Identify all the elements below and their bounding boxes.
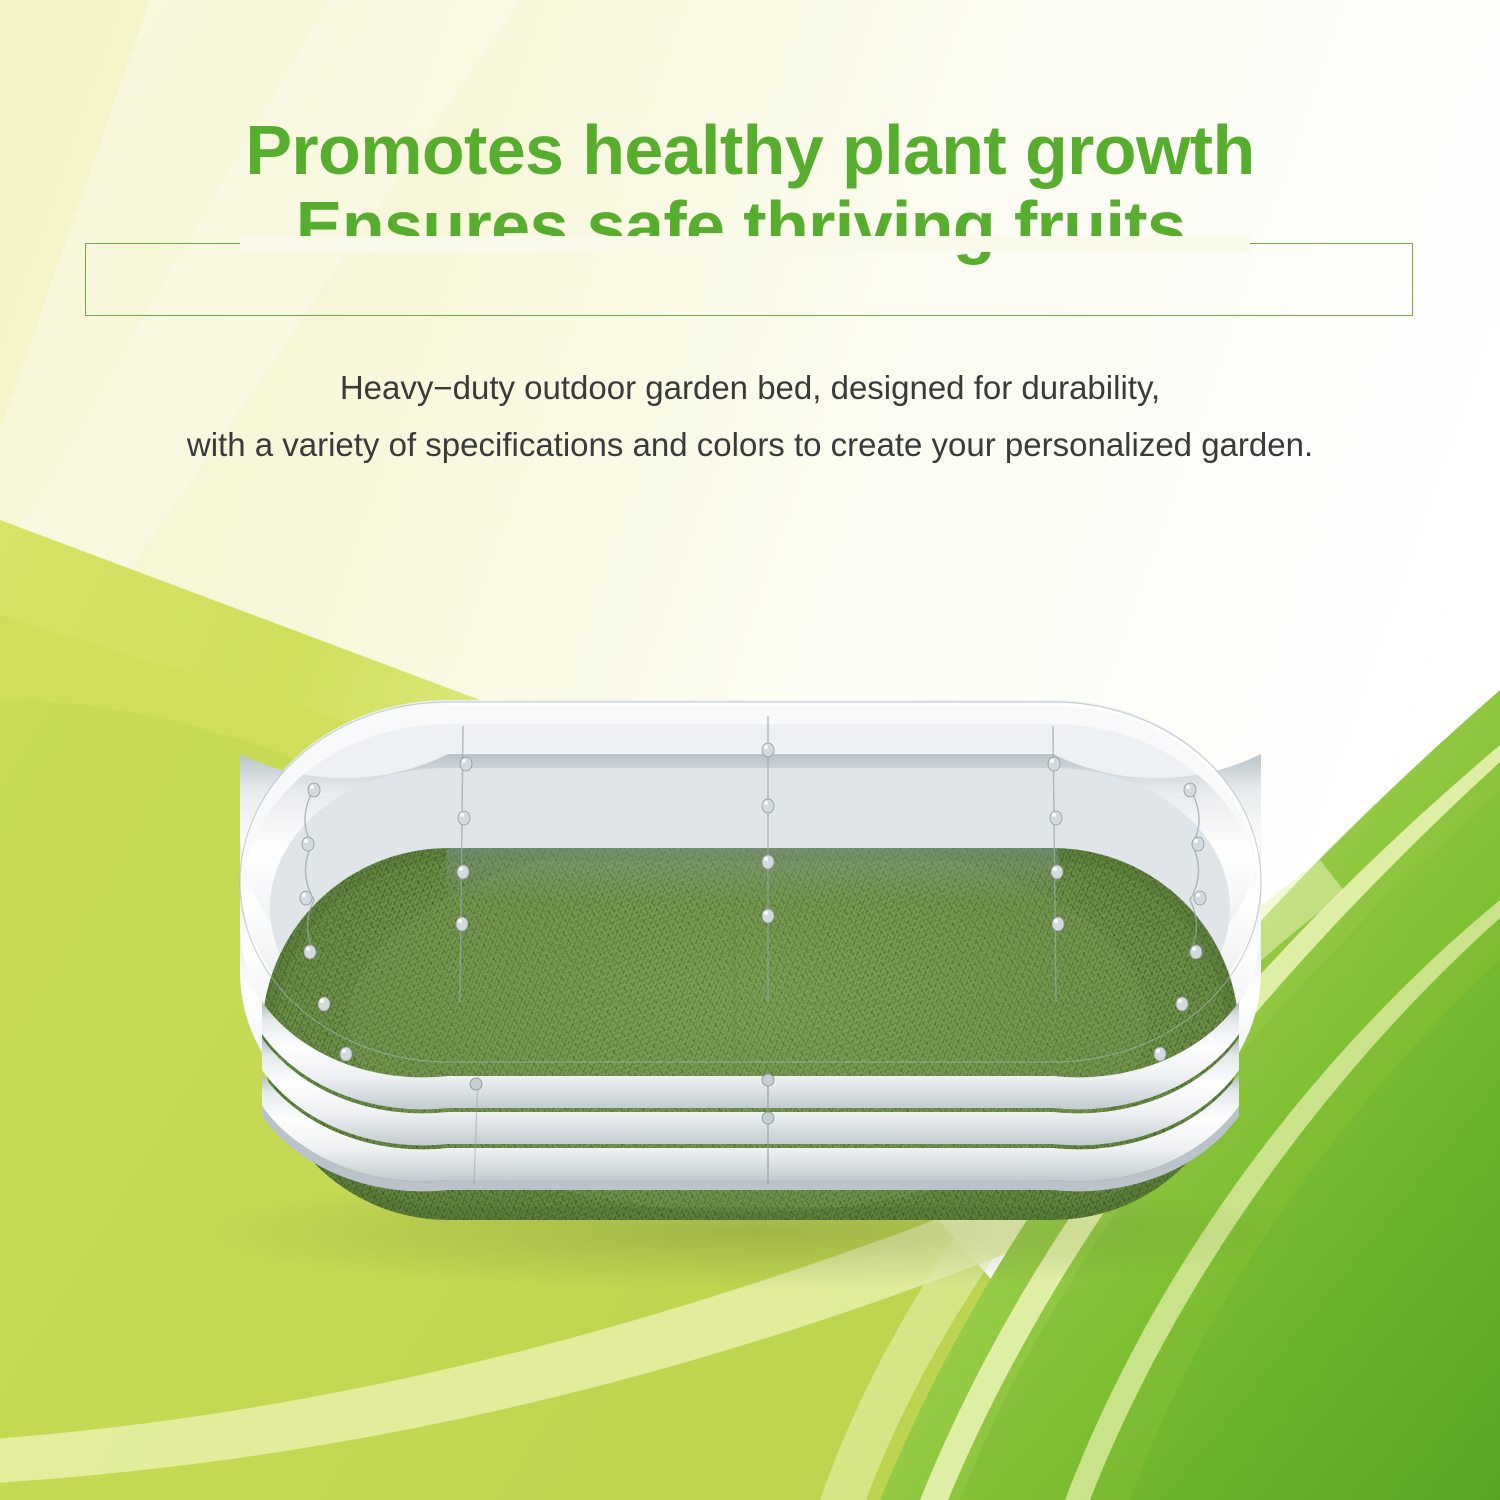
- bolt: [762, 799, 774, 813]
- subtitle-line-2: with a variety of specifications and col…: [0, 425, 1500, 465]
- bolt: [302, 837, 314, 851]
- bolt: [340, 1047, 352, 1061]
- bolt: [762, 1112, 774, 1124]
- bolt: [1050, 811, 1062, 825]
- bolt: [458, 811, 470, 825]
- product-image-raised-garden-bed: [148, 672, 1358, 1292]
- bolt: [1176, 997, 1188, 1011]
- bolt: [1184, 783, 1196, 797]
- headline-block: Promotes healthy plant growth Ensures sa…: [0, 0, 1500, 500]
- bolt: [308, 783, 320, 797]
- bolt: [762, 743, 774, 757]
- bolt: [456, 917, 468, 931]
- bolt: [1154, 1047, 1166, 1061]
- bolt: [1048, 757, 1060, 771]
- bolt: [1192, 837, 1204, 851]
- bolt: [1052, 917, 1064, 931]
- subtitle-line-1: Heavy−duty outdoor garden bed, designed …: [0, 368, 1500, 408]
- product-banner: Promotes healthy plant growth Ensures sa…: [0, 0, 1500, 1500]
- bolt: [762, 855, 774, 869]
- bolt: [304, 945, 316, 959]
- headline-accent-frame: [85, 243, 1413, 316]
- bolt: [457, 865, 469, 879]
- bolt: [470, 1078, 482, 1090]
- bolt: [1051, 865, 1063, 879]
- bolt: [1194, 891, 1206, 905]
- bolt: [762, 1074, 774, 1086]
- bolt: [300, 891, 312, 905]
- headline-accent-frame-gap: [240, 236, 1250, 252]
- bolt: [460, 757, 472, 771]
- bolt: [318, 997, 330, 1011]
- bolt: [1190, 945, 1202, 959]
- bolt: [762, 909, 774, 923]
